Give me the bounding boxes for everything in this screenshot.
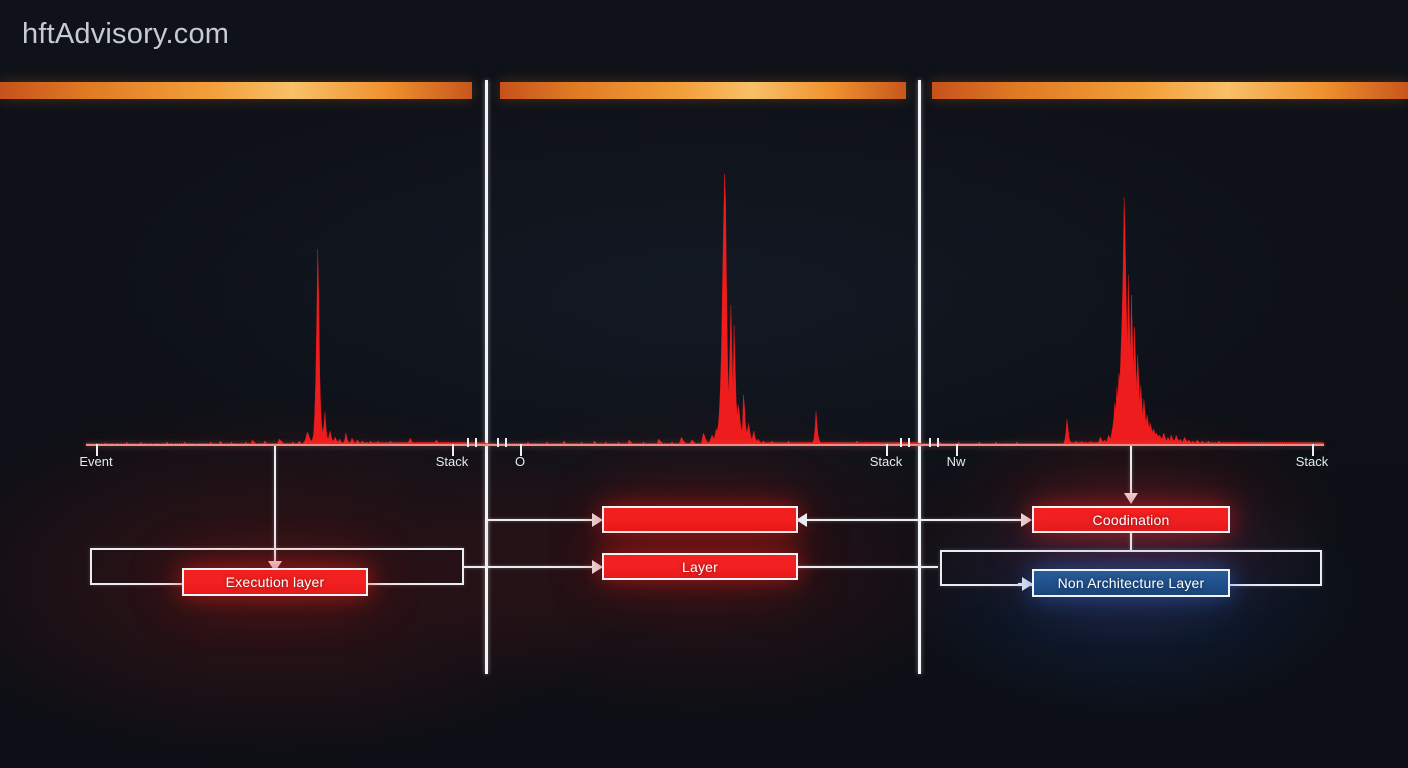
spectrum-panel-left	[86, 170, 486, 445]
diagram-canvas: hftAdvisory.com Event Stack	[0, 0, 1408, 768]
axis-line-left	[86, 444, 486, 446]
axis-label-stack-left: Stack	[436, 454, 469, 469]
accent-bar-right	[932, 82, 1408, 99]
arrowhead-left-mid-upper	[796, 513, 807, 527]
connector-mid-upper-in	[487, 519, 599, 521]
page-title: hftAdvisory.com	[22, 18, 229, 51]
axis-label-nw: Nw	[947, 454, 966, 469]
axis-tick	[497, 438, 499, 447]
axis-tick	[929, 438, 931, 447]
axis-tick	[467, 438, 469, 447]
connector-right-drop	[1130, 446, 1132, 496]
arrowhead-right-coordination	[1021, 513, 1032, 527]
box-non-architecture-layer[interactable]: Non Architecture Layer	[1032, 569, 1230, 597]
axis-tick	[505, 438, 507, 447]
connector-layer-right	[798, 566, 938, 568]
box-middle-upper[interactable]	[602, 506, 798, 533]
accent-bar-left	[0, 82, 472, 99]
box-layer[interactable]: Layer	[602, 553, 798, 580]
spectrum-panel-right	[918, 170, 1324, 445]
box-coordination[interactable]: Coodination	[1032, 506, 1230, 533]
connector-mid-lower-in	[487, 566, 599, 568]
accent-bar-middle	[500, 82, 906, 99]
axis-tick	[900, 438, 902, 447]
axis-label-o: O	[515, 454, 525, 469]
axis-tick	[937, 438, 939, 447]
connector-mid-to-coordination	[806, 519, 1028, 521]
spectrum-right-svg	[918, 170, 1324, 445]
box-execution-layer[interactable]: Execution layer	[182, 568, 368, 596]
spectrum-left-svg	[86, 170, 486, 445]
connector-coordination-down	[1130, 533, 1132, 551]
axis-tick	[475, 438, 477, 447]
axis-tick	[908, 438, 910, 447]
arrowhead-down-right	[1124, 493, 1138, 504]
axis-label-stack-right: Stack	[1296, 454, 1329, 469]
axis-line-right	[918, 444, 1324, 446]
axis-label-stack-middle: Stack	[870, 454, 903, 469]
spectrum-panel-middle	[486, 170, 919, 445]
spectrum-middle-svg	[486, 170, 919, 445]
connector-mid-vertical	[486, 519, 488, 567]
axis-label-event: Event	[79, 454, 112, 469]
connector-left-drop	[274, 446, 276, 564]
connector-left-to-mid	[464, 566, 488, 568]
axis-line-middle	[486, 444, 919, 446]
